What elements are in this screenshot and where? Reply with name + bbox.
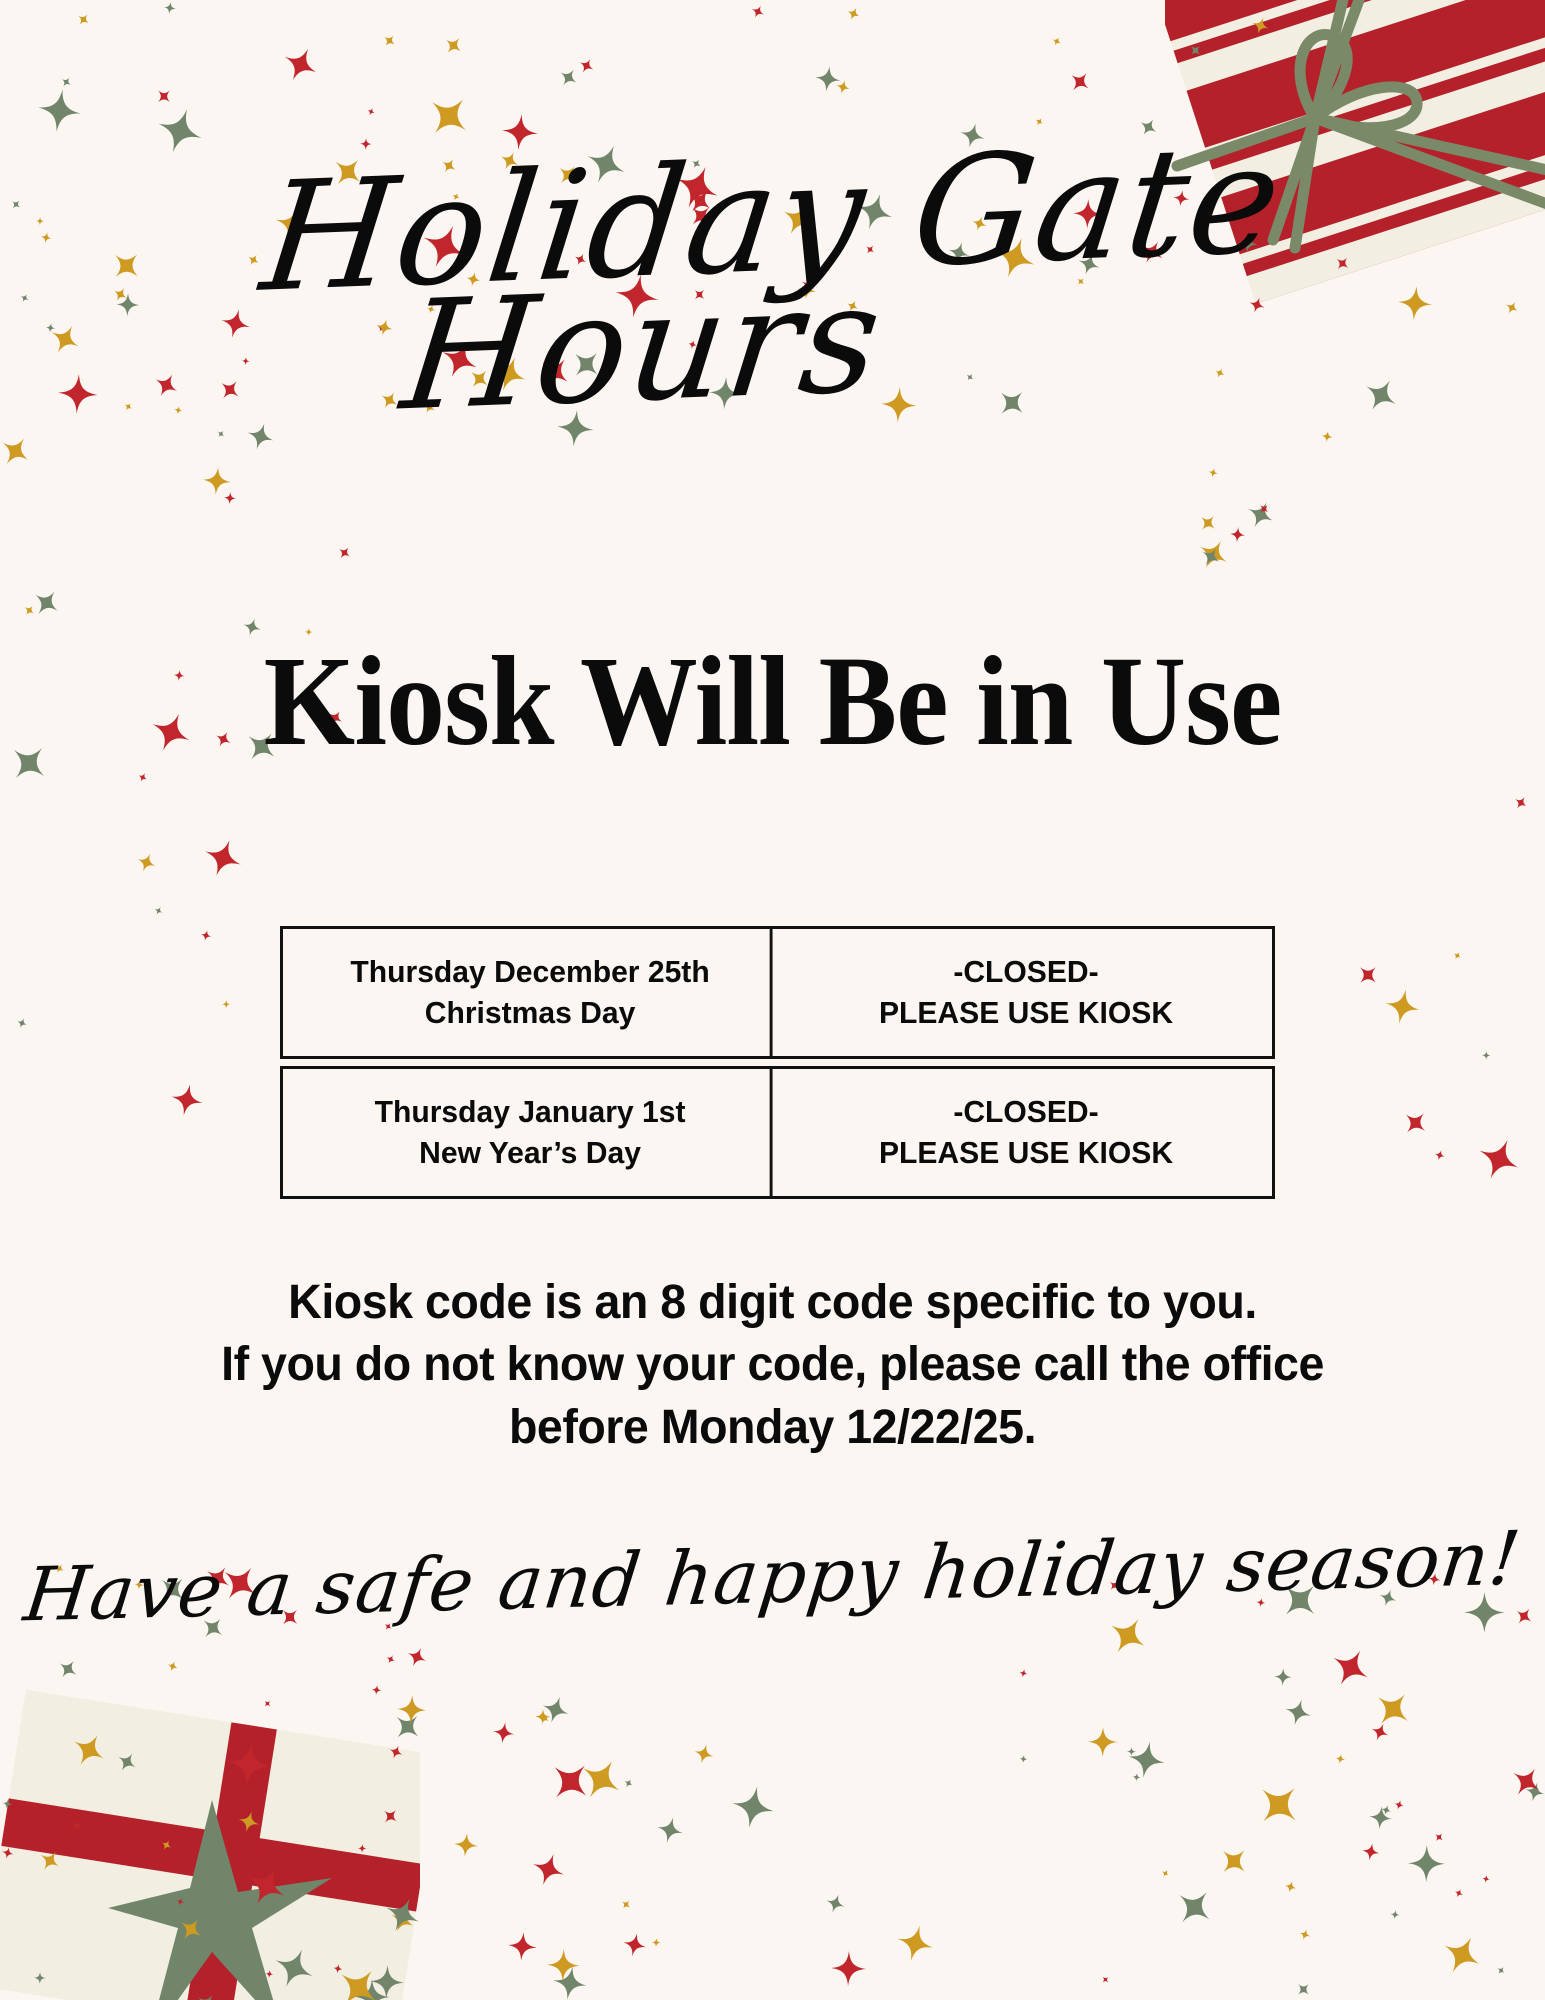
four-point-sparkle-icon	[1192, 533, 1234, 575]
holiday-hours-table: Thursday December 25th Christmas Day -CL…	[280, 926, 1275, 1206]
four-point-sparkle-icon	[1195, 510, 1220, 535]
four-point-sparkle-icon	[212, 728, 235, 751]
four-point-sparkle-icon	[538, 1692, 572, 1726]
four-point-sparkle-icon	[541, 1709, 554, 1722]
four-point-sparkle-icon	[1213, 1840, 1255, 1882]
four-point-sparkle-icon	[1366, 1682, 1419, 1735]
four-point-sparkle-icon	[1435, 1928, 1489, 1982]
four-point-sparkle-icon	[134, 850, 159, 875]
four-point-sparkle-icon	[1133, 1768, 1142, 1777]
instruction-line-1: Kiosk code is an 8 digit code specific t…	[110, 1272, 1434, 1334]
four-point-sparkle-icon	[154, 901, 166, 913]
four-point-sparkle-icon	[335, 543, 353, 561]
four-point-sparkle-icon	[17, 1014, 30, 1027]
four-point-sparkle-icon	[1434, 1828, 1448, 1842]
four-point-sparkle-icon	[1408, 1845, 1446, 1883]
four-point-sparkle-icon	[153, 85, 176, 108]
four-point-sparkle-icon	[1163, 1864, 1174, 1875]
four-point-sparkle-icon	[1020, 1750, 1029, 1759]
four-point-sparkle-icon	[1088, 1727, 1118, 1757]
table-row: Thursday January 1st New Year’s Day -CLO…	[280, 1066, 1275, 1199]
four-point-sparkle-icon	[440, 32, 467, 59]
status-line-2: PLEASE USE KIOSK	[879, 995, 1173, 1030]
main-heading: Kiosk Will Be in Use	[246, 640, 1299, 763]
four-point-sparkle-icon	[528, 1849, 570, 1891]
four-point-sparkle-icon	[1497, 1961, 1510, 1974]
four-point-sparkle-icon	[28, 584, 66, 622]
four-point-sparkle-icon	[1361, 1842, 1382, 1863]
four-point-sparkle-icon	[223, 490, 236, 503]
kiosk-code-instructions: Kiosk code is an 8 digit code specific t…	[110, 1272, 1434, 1459]
four-point-sparkle-icon	[621, 1895, 635, 1909]
four-point-sparkle-icon	[173, 667, 185, 679]
four-point-sparkle-icon	[492, 1721, 516, 1745]
four-point-sparkle-icon	[1398, 1105, 1433, 1140]
four-point-sparkle-icon	[1282, 1696, 1314, 1728]
four-point-sparkle-icon	[1368, 1720, 1391, 1743]
four-point-sparkle-icon	[845, 5, 862, 22]
four-point-sparkle-icon	[551, 1964, 590, 2000]
instruction-line-2: If you do not know your code, please cal…	[110, 1334, 1434, 1396]
four-point-sparkle-icon	[1019, 1664, 1030, 1675]
four-point-sparkle-icon	[199, 834, 248, 883]
four-point-sparkle-icon	[1258, 500, 1274, 516]
four-point-sparkle-icon	[1103, 1970, 1114, 1981]
day-line-2: New Year’s Day	[419, 1135, 641, 1170]
four-point-sparkle-icon	[1052, 31, 1064, 43]
four-point-sparkle-icon	[555, 64, 581, 90]
four-point-sparkle-icon	[1324, 1641, 1377, 1694]
four-point-sparkle-icon	[1394, 1796, 1406, 1808]
table-cell-status: -CLOSED- PLEASE USE KIOSK	[787, 929, 1264, 1056]
day-line-1: Thursday January 1st	[375, 1094, 686, 1129]
four-point-sparkle-icon	[1511, 793, 1530, 812]
four-point-sparkle-icon	[222, 996, 231, 1005]
four-point-sparkle-icon	[834, 78, 851, 95]
four-point-sparkle-icon	[1390, 1905, 1400, 1915]
day-line-1: Thursday December 25th	[350, 954, 709, 989]
four-point-sparkle-icon	[277, 41, 324, 88]
four-point-sparkle-icon	[1299, 1926, 1313, 1940]
four-point-sparkle-icon	[138, 767, 150, 779]
status-line-2: PLEASE USE KIOSK	[879, 1135, 1173, 1170]
four-point-sparkle-icon	[1274, 1668, 1293, 1687]
four-point-sparkle-icon	[813, 64, 842, 93]
four-point-sparkle-icon	[535, 1709, 552, 1726]
four-point-sparkle-icon	[1167, 1880, 1222, 1935]
four-point-sparkle-icon	[1335, 1750, 1347, 1762]
four-point-sparkle-icon	[1125, 1738, 1168, 1781]
four-point-sparkle-icon	[1505, 1760, 1545, 1803]
four-point-sparkle-icon	[1352, 959, 1383, 990]
four-point-sparkle-icon	[74, 10, 92, 28]
four-point-sparkle-icon	[893, 1921, 938, 1966]
four-point-sparkle-icon	[823, 1891, 847, 1915]
four-point-sparkle-icon	[572, 1750, 630, 1808]
four-point-sparkle-icon	[1368, 1805, 1394, 1831]
table-cell-day: Thursday January 1st New Year’s Day	[290, 1069, 772, 1196]
gift-box-star-icon	[0, 1660, 420, 2000]
four-point-sparkle-icon	[621, 1931, 648, 1958]
four-point-sparkle-icon	[368, 102, 378, 112]
four-point-sparkle-icon	[453, 1832, 479, 1858]
four-point-sparkle-icon	[831, 1951, 867, 1987]
four-point-sparkle-icon	[1229, 526, 1245, 542]
four-point-sparkle-icon	[35, 86, 84, 135]
four-point-sparkle-icon	[1065, 67, 1096, 98]
four-point-sparkle-icon	[60, 73, 75, 88]
table-cell-day: Thursday December 25th Christmas Day	[290, 929, 772, 1056]
four-point-sparkle-icon	[1523, 1780, 1545, 1804]
four-point-sparkle-icon	[1453, 946, 1465, 958]
four-point-sparkle-icon	[654, 1814, 685, 1845]
four-point-sparkle-icon	[749, 3, 768, 22]
four-point-sparkle-icon	[576, 55, 596, 75]
instruction-line-3: before Monday 12/22/25.	[110, 1397, 1434, 1459]
four-point-sparkle-icon	[540, 1751, 601, 1812]
four-point-sparkle-icon	[163, 0, 177, 14]
four-point-sparkle-icon	[380, 31, 398, 49]
closing-message: Have a safe and happy holiday season!	[0, 1521, 1545, 1633]
four-point-sparkle-icon	[1, 735, 57, 791]
four-point-sparkle-icon	[200, 927, 213, 940]
four-point-sparkle-icon	[418, 85, 480, 147]
status-badge: -CLOSED-	[953, 1094, 1098, 1129]
four-point-sparkle-icon	[1100, 1608, 1155, 1663]
four-point-sparkle-icon	[624, 1773, 636, 1785]
four-point-sparkle-icon	[1381, 1801, 1393, 1813]
four-point-sparkle-icon	[202, 466, 232, 496]
four-point-sparkle-icon	[1455, 1884, 1467, 1896]
four-point-sparkle-icon	[1321, 428, 1334, 441]
four-point-sparkle-icon	[1293, 1979, 1314, 2000]
holiday-gate-hours-flyer: Holiday Gate Hours Kiosk Will Be in Use …	[0, 0, 1545, 2000]
four-point-sparkle-icon	[728, 1782, 777, 1831]
four-point-sparkle-icon	[1471, 1131, 1526, 1186]
four-point-sparkle-icon	[1511, 1603, 1536, 1628]
four-point-sparkle-icon	[168, 1081, 206, 1119]
four-point-sparkle-icon	[1382, 986, 1423, 1027]
four-point-sparkle-icon	[145, 706, 198, 759]
four-point-sparkle-icon	[692, 1742, 717, 1767]
four-point-sparkle-icon	[652, 1934, 662, 1944]
four-point-sparkle-icon	[507, 1931, 539, 1963]
four-point-sparkle-icon	[1246, 1772, 1311, 1837]
table-row: Thursday December 25th Christmas Day -CL…	[280, 926, 1275, 1059]
four-point-sparkle-icon	[1434, 1147, 1448, 1161]
four-point-sparkle-icon	[1482, 1869, 1491, 1878]
four-point-sparkle-icon	[241, 616, 263, 638]
four-point-sparkle-icon	[1208, 464, 1220, 476]
four-point-sparkle-icon	[1482, 1047, 1491, 1056]
table-cell-status: -CLOSED- PLEASE USE KIOSK	[787, 1069, 1264, 1196]
status-badge: -CLOSED-	[953, 954, 1098, 989]
four-point-sparkle-icon	[1127, 1743, 1136, 1752]
four-point-sparkle-icon	[23, 601, 38, 616]
four-point-sparkle-icon	[1284, 1879, 1299, 1894]
four-point-sparkle-icon	[1197, 543, 1224, 570]
four-point-sparkle-icon	[1242, 496, 1278, 532]
page-title: Holiday Gate Hours	[0, 150, 1545, 412]
four-point-sparkle-icon	[547, 1949, 581, 1983]
day-line-2: Christmas Day	[425, 995, 636, 1030]
